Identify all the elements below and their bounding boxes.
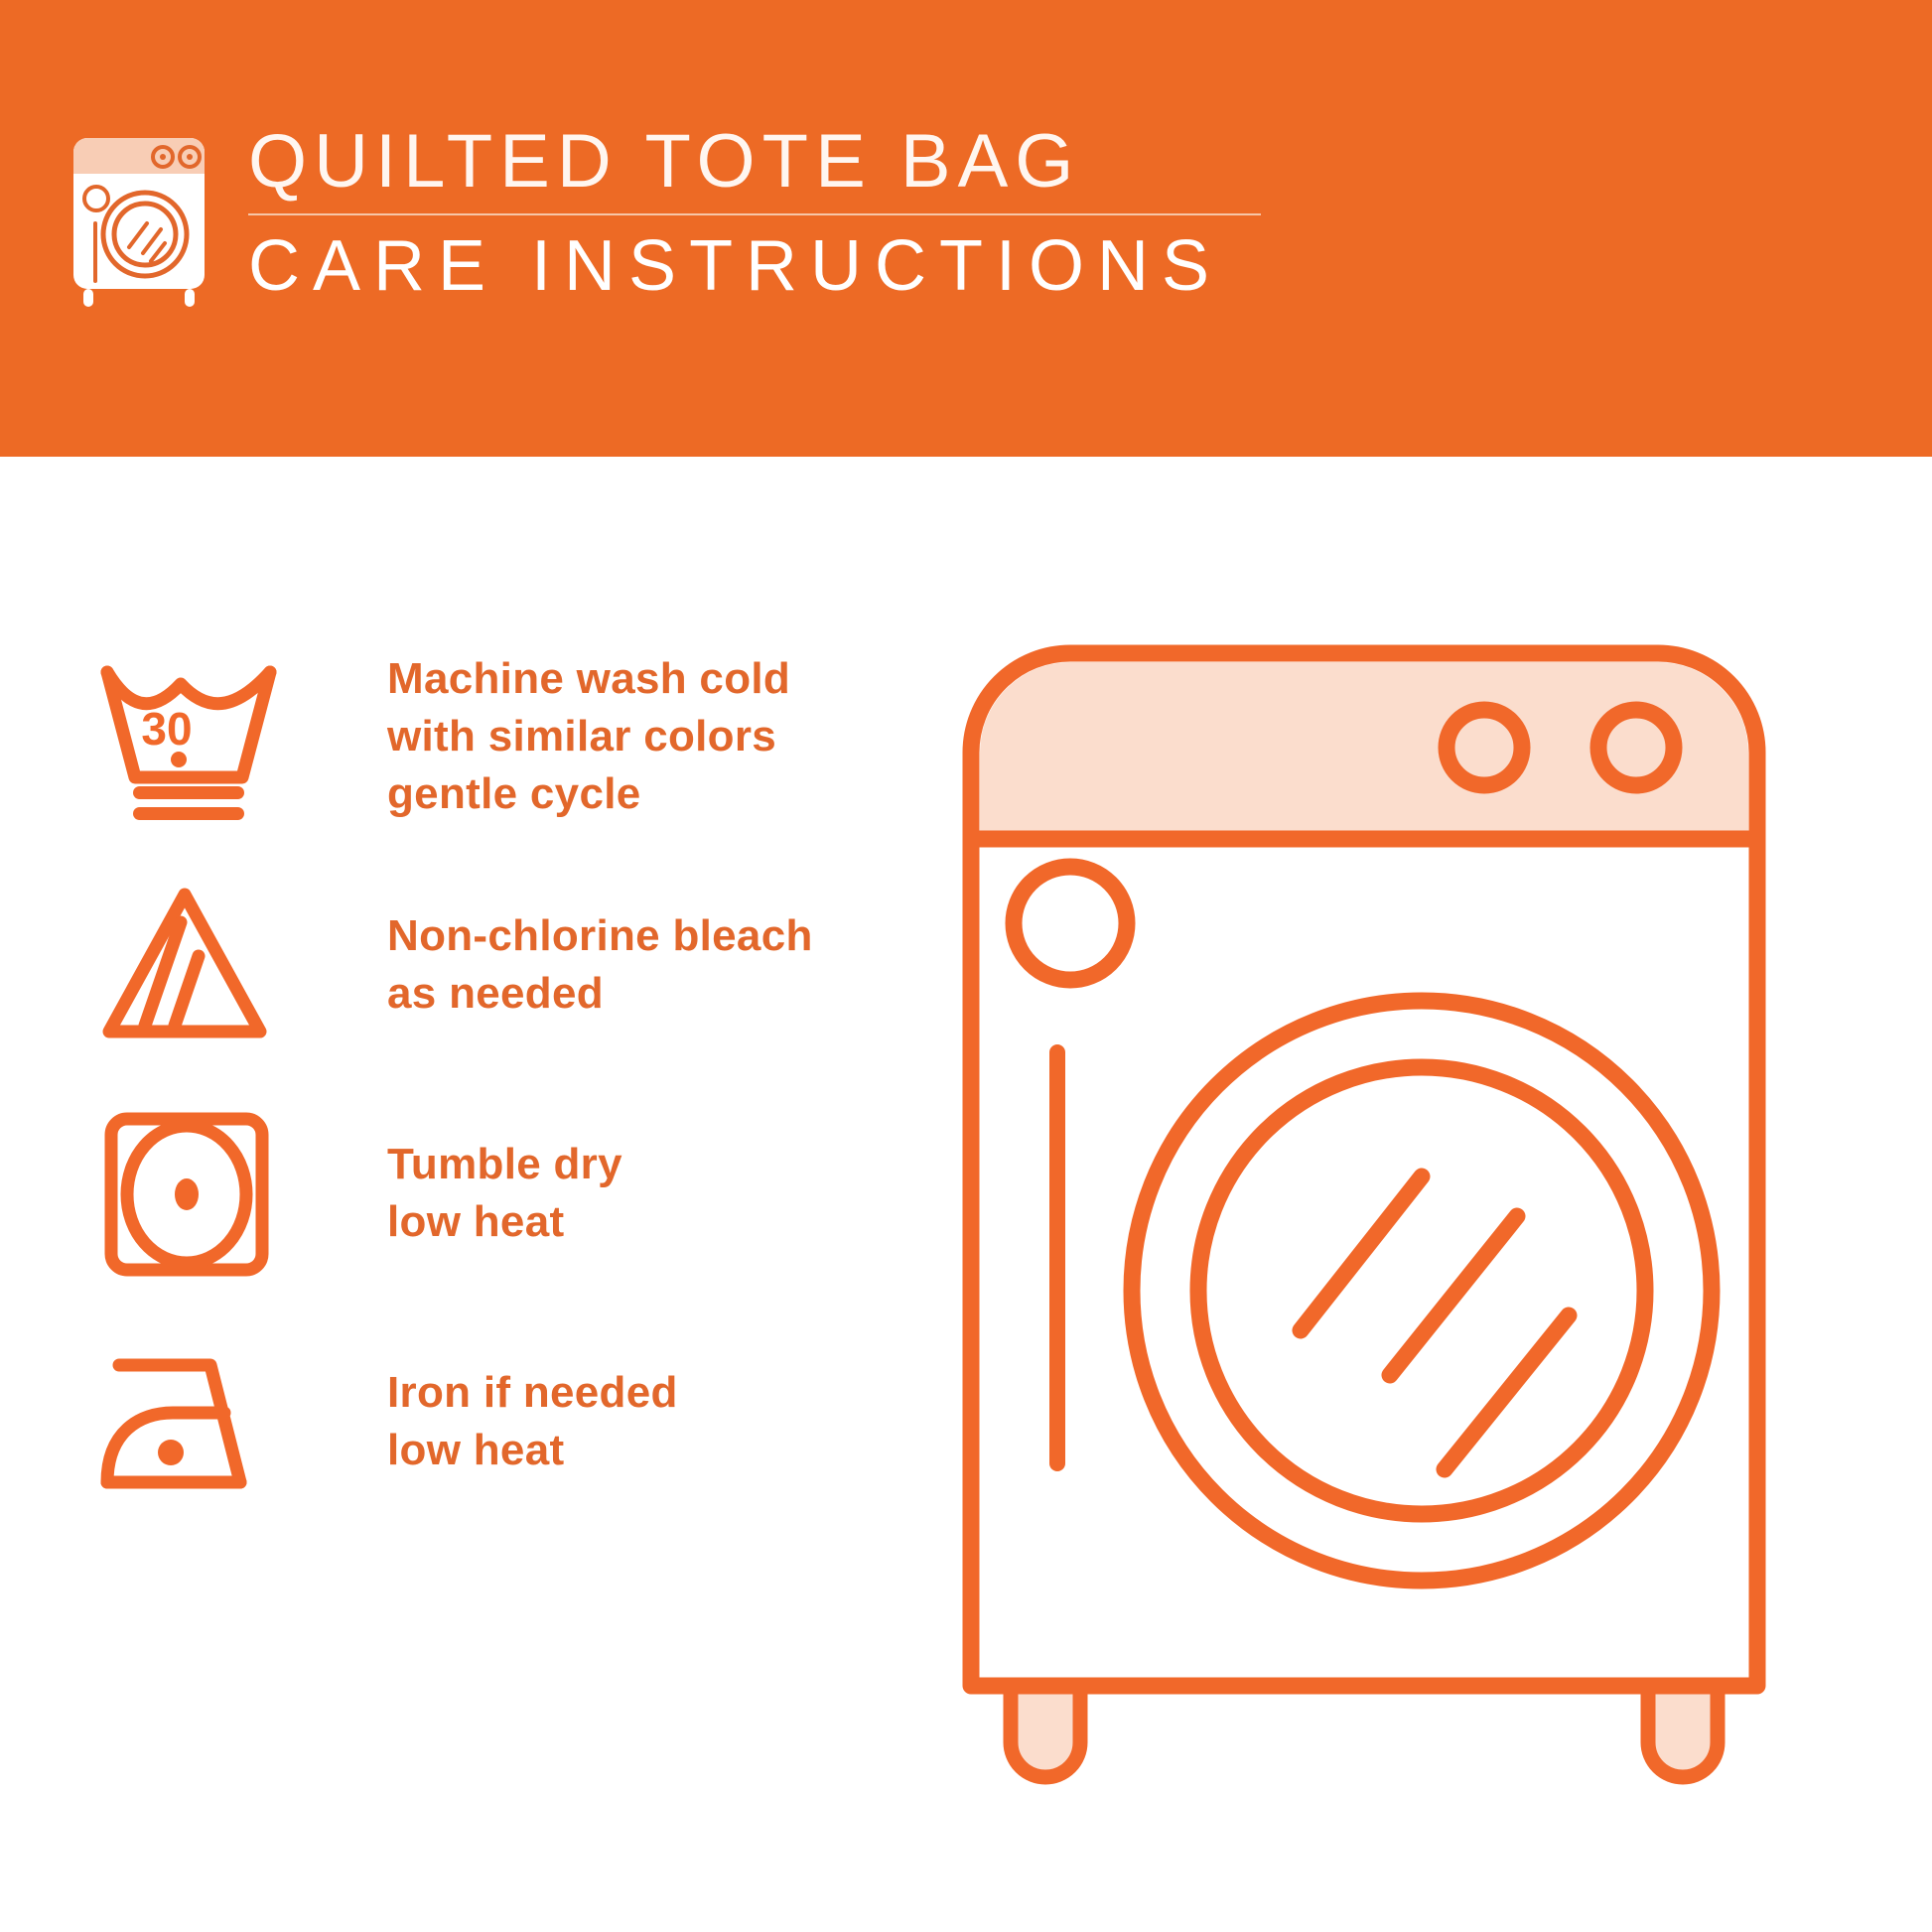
care-text-bleach: Non-chlorine bleach as needed (387, 907, 813, 1023)
wash-temperature-value: 30 (141, 703, 192, 755)
front-load-washing-machine-illustration (953, 635, 1847, 1827)
header-content: QUILTED TOTE BAG CARE INSTRUCTIONS (60, 124, 1261, 309)
care-row-wash: 30 Machine wash cold with similar colors… (89, 642, 913, 831)
care-text-tumble-dry: Tumble dry low heat (387, 1136, 622, 1251)
knob-right (1598, 710, 1674, 785)
title-block: QUILTED TOTE BAG CARE INSTRUCTIONS (248, 124, 1261, 305)
care-text-iron: Iron if needed low heat (387, 1364, 678, 1479)
care-row-iron: Iron if needed low heat (89, 1327, 913, 1516)
care-row-bleach: Non-chlorine bleach as needed (89, 871, 913, 1059)
care-instruction-list: 30 Machine wash cold with similar colors… (89, 660, 913, 1516)
iron-low-heat-icon (89, 1335, 288, 1509)
knob-left (1447, 710, 1522, 785)
non-chlorine-bleach-triangle-icon (89, 879, 288, 1052)
door-hinge-line (1049, 1044, 1065, 1471)
washing-machine-icon (60, 130, 218, 309)
tumble-dry-low-icon (89, 1107, 288, 1281)
wash-tub-30-gentle-icon: 30 (89, 650, 288, 824)
page-subtitle: CARE INSTRUCTIONS (248, 229, 1261, 305)
title-divider (248, 213, 1261, 215)
care-row-tumble-dry: Tumble dry low heat (89, 1099, 913, 1288)
care-text-wash: Machine wash cold with similar colors ge… (387, 650, 790, 823)
header-banner: QUILTED TOTE BAG CARE INSTRUCTIONS (0, 0, 1932, 457)
page-title: QUILTED TOTE BAG (248, 124, 1261, 213)
